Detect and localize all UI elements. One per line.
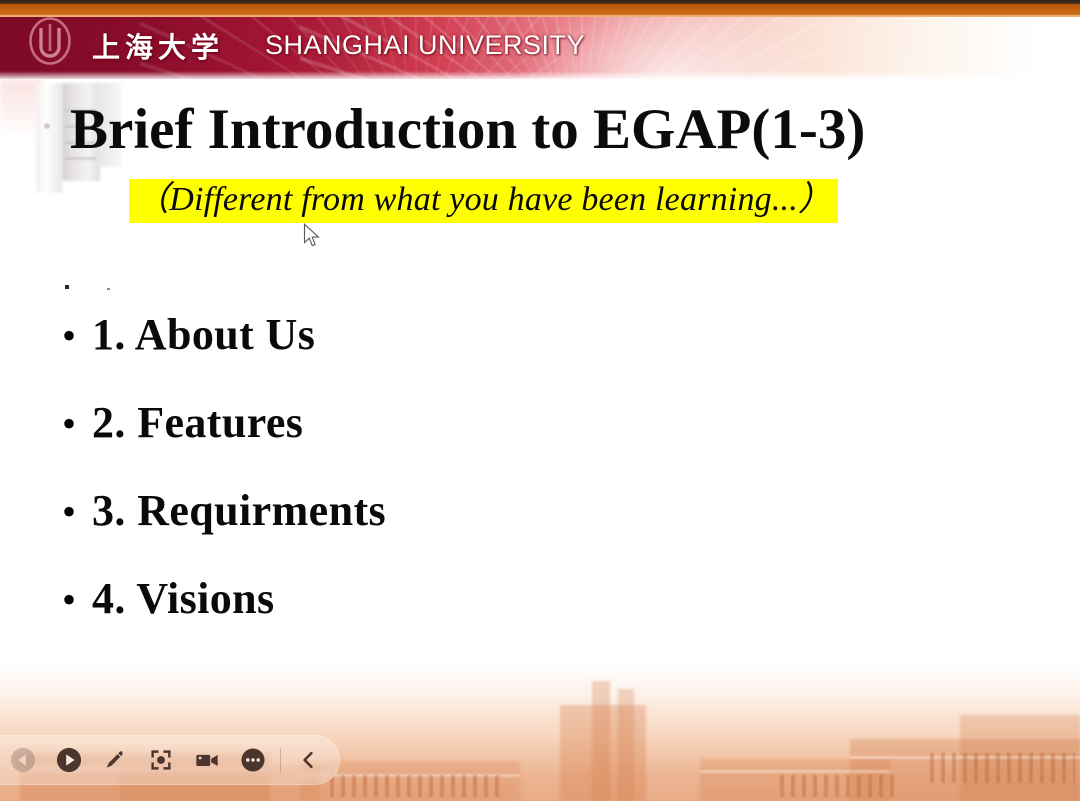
shanghai-university-u-logo-icon bbox=[28, 17, 72, 65]
capture-frame-icon bbox=[148, 747, 174, 773]
toolbar-divider bbox=[280, 748, 281, 772]
collapse-button[interactable] bbox=[285, 735, 331, 785]
stray-speck bbox=[65, 285, 69, 289]
slide-subtitle: （Different from what you have been learn… bbox=[129, 179, 838, 223]
brand-name-english: SHANGHAI UNIVERSITY bbox=[265, 30, 585, 61]
bullet-dot-icon: • bbox=[62, 404, 92, 444]
player-toolbar bbox=[0, 735, 340, 785]
list-item: • 1. About Us bbox=[62, 313, 386, 401]
pencil-icon bbox=[102, 747, 128, 773]
list-item: • 2. Features bbox=[62, 401, 386, 489]
list-item: • 4. Visions bbox=[62, 577, 386, 665]
list-item-label: 4. Visions bbox=[92, 577, 275, 621]
bullet-dot-icon: • bbox=[62, 492, 92, 532]
slide-subtitle-highlight: （Different from what you have been learn… bbox=[129, 179, 838, 223]
previous-button[interactable] bbox=[0, 735, 46, 785]
play-triangle-circle-icon bbox=[56, 747, 82, 773]
three-dots-circle-icon bbox=[240, 747, 266, 773]
record-button[interactable] bbox=[184, 735, 230, 785]
screenshot-button[interactable] bbox=[138, 735, 184, 785]
play-button[interactable] bbox=[46, 735, 92, 785]
slide-canvas: Brief Introduction to EGAP(1-3) （Differe… bbox=[0, 79, 1080, 801]
stray-speck bbox=[107, 288, 110, 290]
bullet-dot-icon: • bbox=[62, 316, 92, 356]
agenda-list: • 1. About Us • 2. Features • 3. Requirm… bbox=[62, 313, 386, 665]
chevron-left-icon bbox=[296, 748, 320, 772]
bullet-dot-icon: • bbox=[62, 580, 92, 620]
page-title: Brief Introduction to EGAP(1-3) bbox=[70, 100, 1030, 160]
list-item: • 3. Requirments bbox=[62, 489, 386, 577]
banner-bottom-fade bbox=[0, 71, 1080, 79]
list-item-label: 2. Features bbox=[92, 401, 303, 445]
slide-viewer: 上海大学 SHANGHAI UNIVERSITY Brief Introduct… bbox=[0, 0, 1080, 801]
previous-triangle-circle-icon bbox=[10, 747, 36, 773]
brand-name-chinese: 上海大学 bbox=[92, 26, 224, 66]
more-button[interactable] bbox=[230, 735, 276, 785]
list-item-label: 1. About Us bbox=[92, 313, 315, 357]
video-camera-icon bbox=[193, 747, 221, 773]
window-accent-bar bbox=[0, 4, 1080, 17]
list-item-label: 3. Requirments bbox=[92, 489, 386, 533]
annotate-button[interactable] bbox=[92, 735, 138, 785]
